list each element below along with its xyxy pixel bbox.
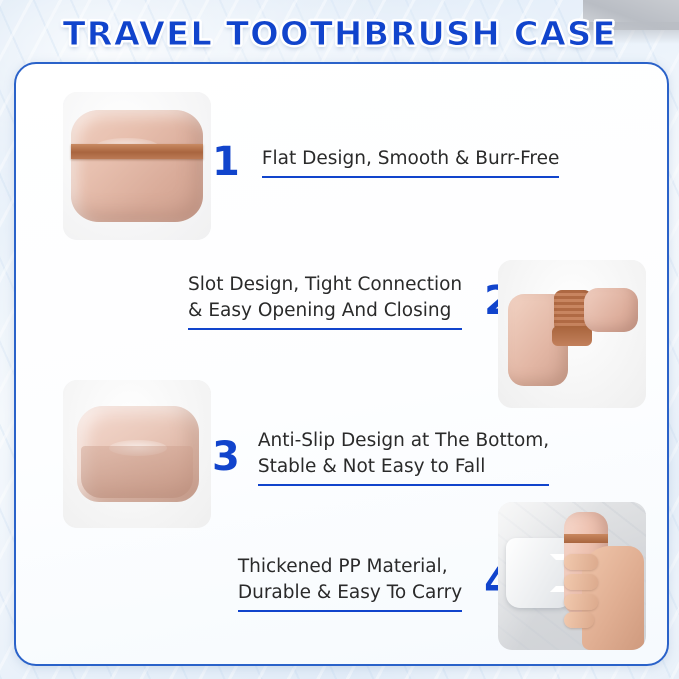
- finger: [564, 554, 598, 570]
- feature-card: 1 Flat Design, Smooth & Burr-Free Slot D…: [14, 62, 669, 666]
- finger: [564, 594, 598, 610]
- feature-row-1: 1 Flat Design, Smooth & Burr-Free: [212, 142, 612, 182]
- feature-photo-3: [63, 380, 211, 528]
- feature-row-3: 3 Anti-Slip Design at The Bottom, Stable…: [212, 428, 612, 486]
- page-title: TRAVEL TOOTHBRUSH CASE: [62, 14, 616, 53]
- case-body-shape: [71, 110, 203, 222]
- feature-text-1: Flat Design, Smooth & Burr-Free: [262, 146, 560, 177]
- case-band-shape: [564, 534, 608, 543]
- finger: [564, 612, 594, 628]
- feature-row-4: Thickened PP Material, Durable & Easy To…: [192, 554, 512, 612]
- poster-title-bar: TRAVEL TOOTHBRUSH CASE: [0, 14, 679, 53]
- feature-row-2: Slot Design, Tight Connection & Easy Ope…: [152, 272, 512, 330]
- feature-text-3: Anti-Slip Design at The Bottom, Stable &…: [258, 428, 549, 486]
- feature-text-4: Thickened PP Material, Durable & Easy To…: [238, 554, 462, 612]
- case-band-shape: [71, 144, 203, 159]
- feature-number-3: 3: [212, 437, 240, 477]
- feature-number-1: 1: [212, 142, 240, 182]
- feature-text-2: Slot Design, Tight Connection & Easy Ope…: [188, 272, 462, 330]
- feature-photo-2: [498, 260, 646, 408]
- feature-photo-1: [63, 92, 211, 240]
- feature-photo-4: [498, 502, 646, 650]
- case-neck-base: [552, 326, 592, 346]
- marble-cup: [506, 538, 572, 608]
- finger: [564, 574, 598, 590]
- case-half-right: [584, 288, 638, 332]
- product-feature-poster: TRAVEL TOOTHBRUSH CASE 1 Flat Design, Sm…: [0, 0, 679, 679]
- case-bottom-face: [81, 446, 193, 498]
